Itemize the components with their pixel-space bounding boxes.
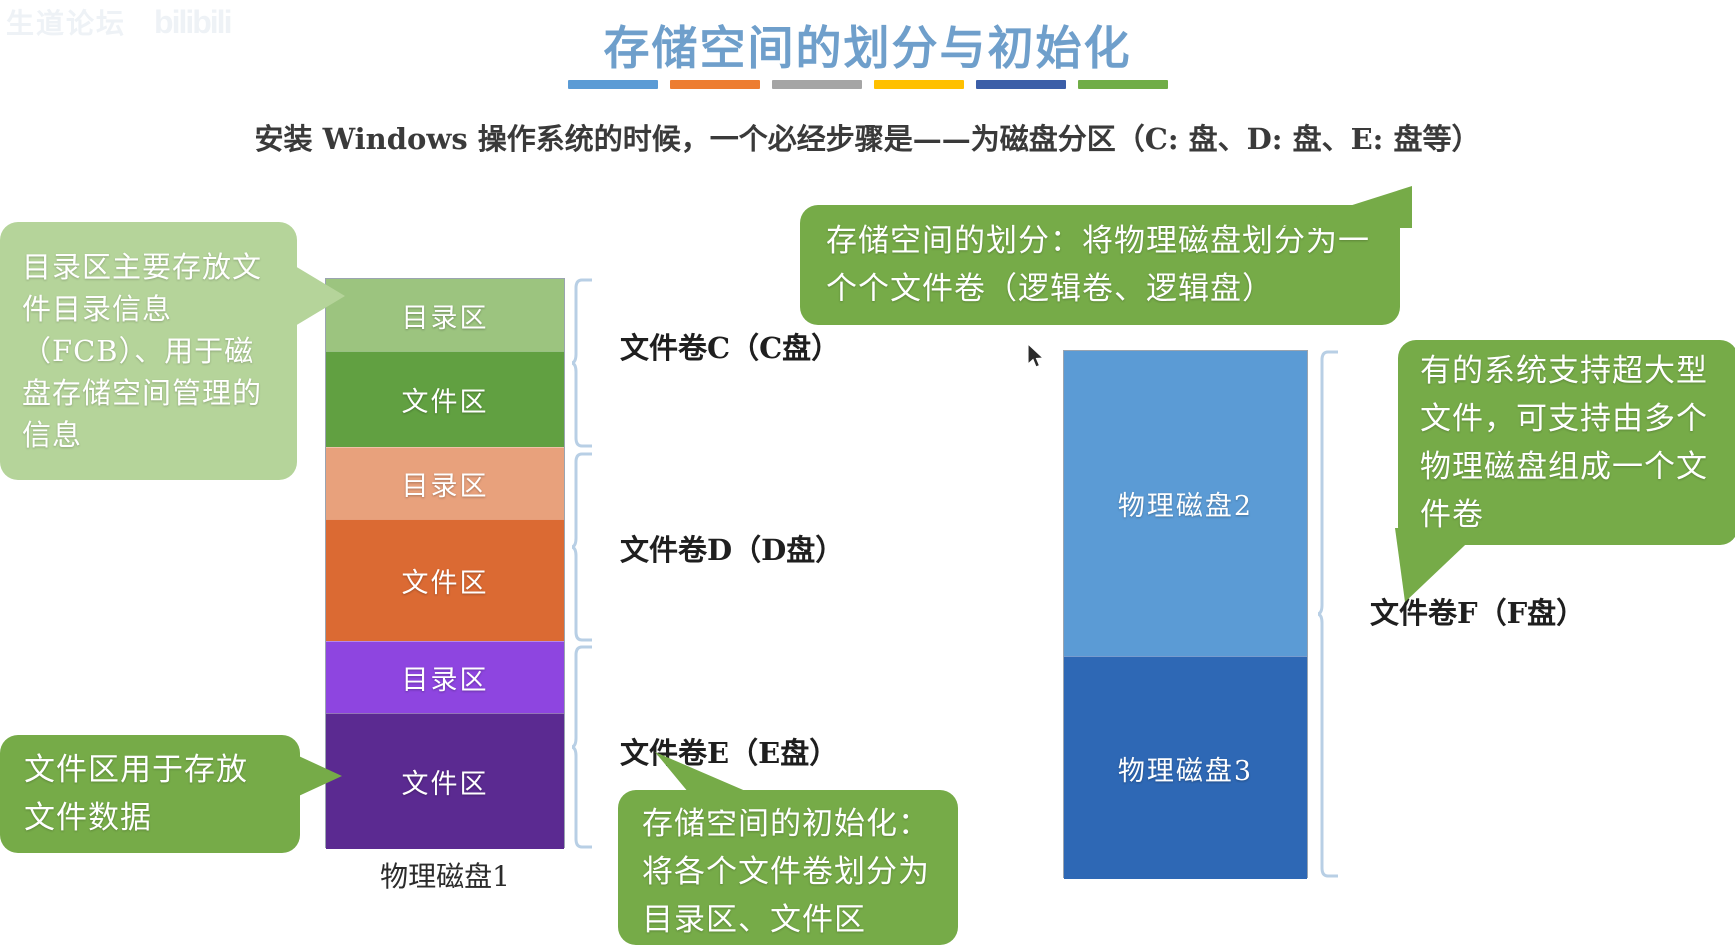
callout-directory-area-text: 目录区主要存放文件目录信息（FCB）、用于磁盘存储空间管理的信息 bbox=[22, 246, 275, 456]
disk2-segment-physical-disk-2: 物理磁盘2 bbox=[1064, 351, 1307, 656]
disk2-segment-label: 物理磁盘2 bbox=[1118, 484, 1253, 523]
callout-multi-disk: 有的系统支持超大型文件，可支持由多个物理磁盘组成一个文件卷 bbox=[1398, 340, 1735, 545]
volume-label-d: 文件卷D（D盘） bbox=[620, 527, 844, 569]
mouse-cursor bbox=[1027, 343, 1047, 371]
disk1-segment-label: 文件区 bbox=[402, 380, 489, 419]
callout-file-area-text: 文件区用于存放文件数据 bbox=[24, 746, 276, 842]
brace-volume-c bbox=[572, 278, 600, 448]
title-rule bbox=[568, 80, 1168, 89]
brace-volume-e bbox=[572, 645, 600, 850]
rule-swatch-4 bbox=[874, 80, 964, 89]
disk1-segment-file-c: 文件区 bbox=[326, 351, 564, 447]
callout-multi-disk-text: 有的系统支持超大型文件，可支持由多个物理磁盘组成一个文件卷 bbox=[1420, 347, 1716, 539]
subtitle-text: 安装 Windows 操作系统的时候，一个必经步骤是——为磁盘分区（C: 盘、D… bbox=[0, 116, 1735, 158]
disk1-segment-directory-e: 目录区 bbox=[326, 641, 564, 713]
volume-label-c: 文件卷C（C盘） bbox=[620, 325, 840, 367]
callout-directory-area: 目录区主要存放文件目录信息（FCB）、用于磁盘存储空间管理的信息 bbox=[0, 222, 297, 480]
disk1-segment-directory-c: 目录区 bbox=[326, 279, 564, 351]
disk1-segment-label: 目录区 bbox=[402, 464, 489, 503]
physical-disk-1-caption: 物理磁盘1 bbox=[325, 855, 565, 895]
callout-initialization-text: 存储空间的初始化：将各个文件卷划分为目录区、文件区 bbox=[642, 800, 934, 944]
brace-volume-d bbox=[572, 452, 600, 642]
page-title: 存储空间的划分与初始化 bbox=[0, 12, 1735, 78]
disk1-segment-directory-d: 目录区 bbox=[326, 447, 564, 519]
disk1-segment-label: 目录区 bbox=[402, 658, 489, 697]
physical-disk-1: 目录区 文件区 目录区 文件区 目录区 文件区 bbox=[325, 278, 565, 848]
disk3-segment-label: 物理磁盘3 bbox=[1118, 749, 1253, 788]
physical-disk-group-2-3: 物理磁盘2 物理磁盘3 bbox=[1063, 350, 1308, 878]
disk1-segment-label: 文件区 bbox=[402, 762, 489, 801]
disk1-segment-label: 目录区 bbox=[402, 296, 489, 335]
callout-partition-tail bbox=[1280, 186, 1420, 232]
callout-initialization-tail bbox=[655, 752, 795, 818]
rule-swatch-1 bbox=[568, 80, 658, 89]
rule-swatch-6 bbox=[1078, 80, 1168, 89]
rule-swatch-2 bbox=[670, 80, 760, 89]
disk1-segment-label: 文件区 bbox=[402, 561, 489, 600]
slide-canvas: 生道论坛bilibili 存储空间的划分与初始化 安装 Windows 操作系统… bbox=[0, 0, 1735, 945]
disk1-segment-file-e: 文件区 bbox=[326, 713, 564, 849]
callout-multi-disk-tail bbox=[1395, 528, 1505, 608]
callout-file-area: 文件区用于存放文件数据 bbox=[0, 735, 300, 853]
rule-swatch-5 bbox=[976, 80, 1066, 89]
callout-file-area-tail bbox=[290, 748, 350, 808]
rule-swatch-3 bbox=[772, 80, 862, 89]
callout-directory-area-tail bbox=[285, 256, 351, 336]
disk3-segment-physical-disk-3: 物理磁盘3 bbox=[1064, 656, 1307, 879]
disk1-segment-file-d: 文件区 bbox=[326, 519, 564, 641]
brace-volume-f bbox=[1318, 350, 1346, 878]
